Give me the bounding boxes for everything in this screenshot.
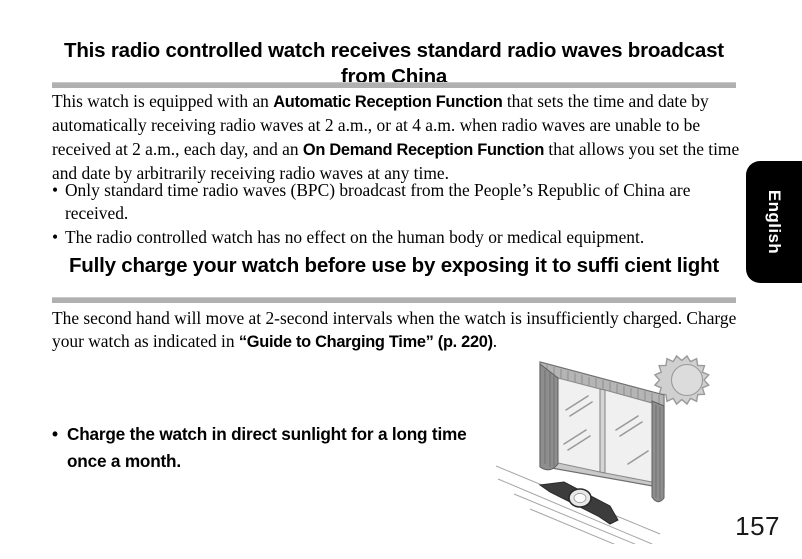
window-illustration [540,362,664,502]
bullet-marker-icon: • [52,179,65,202]
language-tab-english[interactable]: English [746,161,802,283]
list-item: • Charge the watch in direct sunlight fo… [52,421,472,475]
list-item-label: Only standard time radio waves (BPC) bro… [65,179,742,226]
document-page: This radio controlled watch receives sta… [0,0,802,559]
list-item-label: Charge the watch in direct sunlight for … [67,421,472,475]
section-heading-charging: Fully charge your watch before use by ex… [52,253,736,279]
illustration-watch-in-sunlight [492,348,742,544]
language-tab-label: English [764,190,784,254]
list-item: • The radio controlled watch has no effe… [52,226,742,249]
page-number: 157 [735,511,780,542]
bullet-list-sunlight-note: • Charge the watch in direct sunlight fo… [52,421,472,475]
paragraph-1-text-part-1: This watch is equipped with an [52,91,273,111]
list-item-label: The radio controlled watch has no effect… [65,226,742,249]
list-item: • Only standard time radio waves (BPC) b… [52,179,742,226]
curtain-right [652,401,664,502]
paragraph-1-bold-on-demand-reception: On Demand Reception Function [303,141,544,159]
bullet-list-radio-notes: • Only standard time radio waves (BPC) b… [52,179,742,249]
heading-rule-2 [52,297,736,303]
heading-rule-1 [52,82,736,88]
bullet-marker-icon: • [52,421,67,448]
bullet-marker-icon: • [52,226,65,249]
paragraph-reception-functions: This watch is equipped with an Automatic… [52,90,740,186]
curtain-left [540,364,558,470]
paragraph-2-bold-guide-reference: “Guide to Charging Time” (p. 220) [239,333,493,351]
paragraph-1-bold-automatic-reception: Automatic Reception Function [273,93,502,111]
